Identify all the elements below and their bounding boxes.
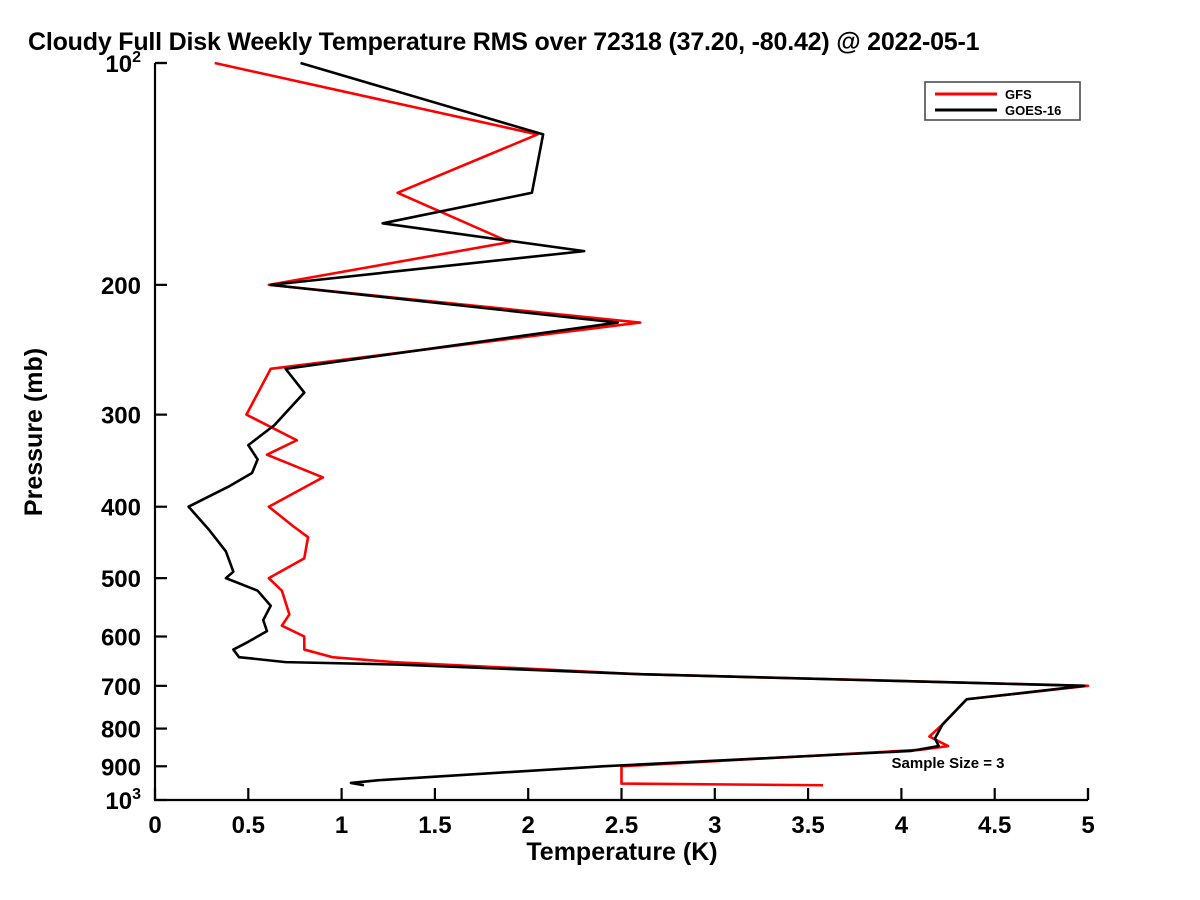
- y-tick-label-400: 400: [101, 495, 141, 522]
- chart-figure: Cloudy Full Disk Weekly Temperature RMS …: [0, 0, 1200, 900]
- y-tick-label-900: 900: [101, 754, 141, 781]
- y-tick-label-100: 102: [105, 49, 141, 78]
- plot-axes: [155, 63, 1088, 800]
- x-tick-label-4: 4: [895, 812, 909, 839]
- y-tick-label-700: 700: [101, 674, 141, 701]
- series-line-goes-16: [189, 63, 1085, 785]
- legend-label-goes-16[interactable]: GOES-16: [1005, 103, 1061, 118]
- y-tick-label-300: 300: [101, 403, 141, 430]
- y-tick-label-500: 500: [101, 566, 141, 593]
- temperature-rms-profile-plot: 102200300400500600700800900103 00.511.52…: [0, 0, 1200, 900]
- x-tick-label-5: 5: [1081, 812, 1094, 839]
- series-line-gfs: [215, 63, 1088, 785]
- x-tick-label-1: 1: [335, 812, 348, 839]
- y-tick-label-1000: 103: [105, 786, 141, 815]
- annotation-sample-size: Sample Size = 3: [892, 755, 1005, 772]
- x-tick-label-3.5: 3.5: [791, 812, 824, 839]
- annotations-group: Sample Size = 3: [892, 755, 1005, 772]
- y-tick-label-200: 200: [101, 273, 141, 300]
- x-tick-label-2: 2: [522, 812, 535, 839]
- x-tick-label-2.5: 2.5: [605, 812, 638, 839]
- chart-legend[interactable]: GFSGOES-16: [925, 82, 1080, 120]
- x-tick-label-1.5: 1.5: [418, 812, 451, 839]
- x-tick-label-0: 0: [148, 812, 161, 839]
- data-series-group: [189, 63, 1088, 785]
- x-tick-label-0.5: 0.5: [232, 812, 265, 839]
- x-axis-ticks: 00.511.522.533.544.55: [148, 788, 1094, 839]
- axis-frame: [155, 63, 1088, 800]
- x-tick-label-3: 3: [708, 812, 721, 839]
- y-tick-label-600: 600: [101, 624, 141, 651]
- x-axis-title: Temperature (K): [526, 838, 717, 866]
- legend-label-gfs[interactable]: GFS: [1005, 87, 1032, 102]
- y-tick-label-800: 800: [101, 717, 141, 744]
- y-axis-ticks: 102200300400500600700800900103: [101, 49, 167, 815]
- x-tick-label-4.5: 4.5: [978, 812, 1011, 839]
- y-axis-title: Pressure (mb): [20, 348, 48, 516]
